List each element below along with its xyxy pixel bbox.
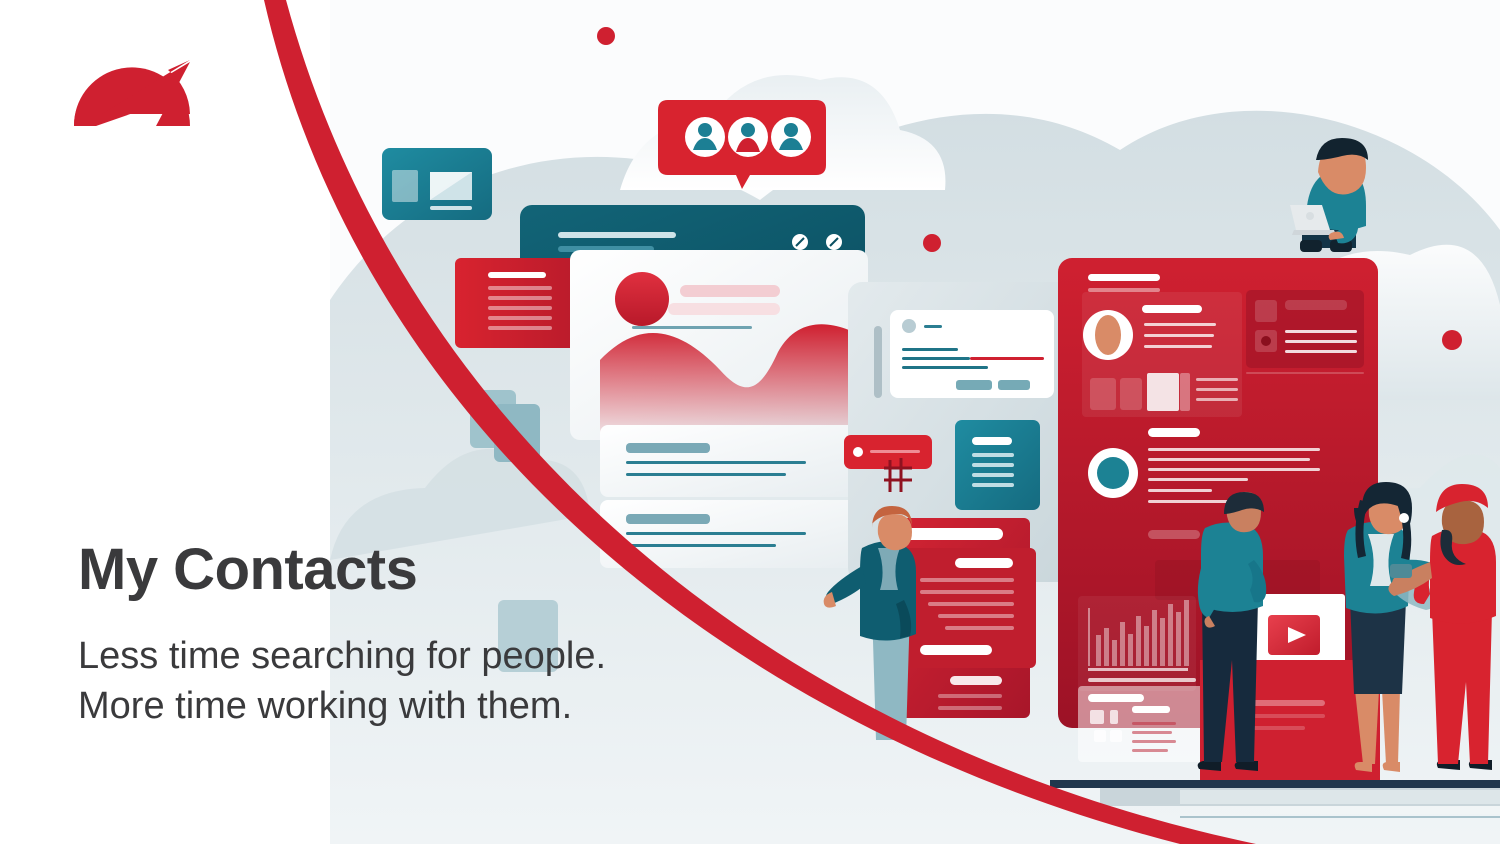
avatar-red — [728, 117, 768, 157]
subhead-line-2: More time working with them. — [78, 681, 798, 731]
white-profile-card — [570, 250, 868, 440]
red-dot-top — [597, 27, 615, 45]
red-dot-mid — [923, 234, 941, 252]
hero-banner: My Contacts Less time searching for peop… — [0, 0, 1500, 844]
hero-copy: My Contacts Less time searching for peop… — [78, 540, 798, 731]
red-dot-right — [1442, 330, 1462, 350]
light-info-card — [1078, 686, 1206, 762]
speedometer-logo-icon — [74, 60, 190, 126]
bar-chart-panel — [1078, 596, 1196, 691]
hero-subhead: Less time searching for people. More tim… — [78, 631, 798, 731]
teal-note-card — [955, 420, 1040, 510]
subhead-line-1: Less time searching for people. — [78, 631, 798, 681]
avatar-teal-1 — [685, 117, 725, 157]
white-dialog-card — [890, 310, 1054, 398]
avatar-teal-2 — [771, 117, 811, 157]
teal-image-card — [382, 148, 492, 220]
white-list-card-1 — [600, 425, 868, 497]
brand-logo[interactable] — [72, 58, 192, 138]
page-title: My Contacts — [78, 540, 798, 601]
